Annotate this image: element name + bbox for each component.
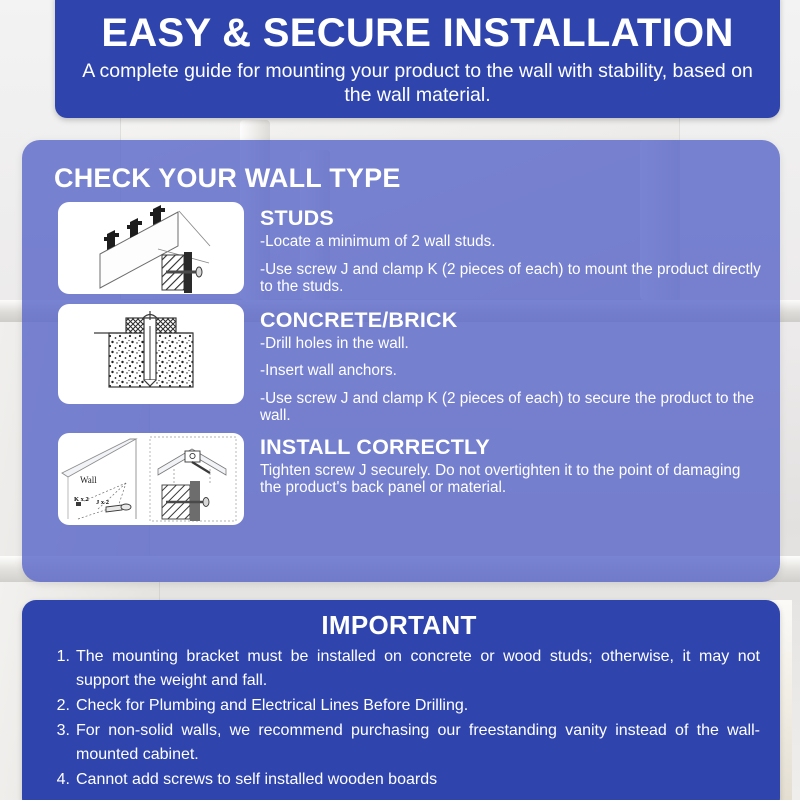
install-correctly-diagram-svg: Wall K x 2 J x 2	[58, 433, 244, 525]
concrete-diagram	[58, 304, 244, 404]
page-subtitle: A complete guide for mounting your produ…	[73, 59, 762, 107]
important-list: The mounting bracket must be installed o…	[38, 645, 760, 792]
important-list-item: Check for Plumbing and Electrical Lines …	[42, 694, 760, 718]
concrete-anchor-diagram-svg	[58, 304, 244, 404]
install-line-1: Tighten screw J securely. Do not overtig…	[260, 462, 762, 497]
studs-panel-diagram-svg	[58, 202, 244, 294]
install-diagram: Wall K x 2 J x 2	[58, 433, 244, 525]
studs-line-2: -Use screw J and clamp K (2 pieces of ea…	[260, 261, 762, 296]
clamp-qty-label: K x 2	[74, 496, 89, 503]
concrete-heading: CONCRETE/BRICK	[260, 308, 762, 333]
wall-type-item-concrete: CONCRETE/BRICK -Drill holes in the wall.…	[40, 304, 762, 425]
concrete-line-2: -Insert wall anchors.	[260, 362, 762, 380]
wall-type-title: CHECK YOUR WALL TYPE	[54, 163, 762, 194]
studs-line-1: -Locate a minimum of 2 wall studs.	[260, 233, 762, 251]
wall-type-card: CHECK YOUR WALL TYPE	[22, 140, 780, 582]
install-text: INSTALL CORRECTLY Tighten screw J secure…	[244, 433, 762, 497]
wall-type-item-install: Wall K x 2 J x 2	[40, 433, 762, 525]
important-list-item: Cannot add screws to self installed wood…	[42, 768, 760, 792]
important-banner: IMPORTANT The mounting bracket must be i…	[22, 600, 780, 800]
studs-diagram	[58, 202, 244, 294]
concrete-line-3: -Use screw J and clamp K (2 pieces of ea…	[260, 390, 762, 425]
infographic-page: N°5 CHANE EASY & SECURE INSTALLATION A c…	[0, 0, 800, 800]
concrete-text: CONCRETE/BRICK -Drill holes in the wall.…	[244, 304, 762, 425]
install-heading: INSTALL CORRECTLY	[260, 435, 762, 460]
wall-label: Wall	[80, 475, 97, 485]
important-title: IMPORTANT	[38, 610, 760, 641]
page-title: EASY & SECURE INSTALLATION	[73, 10, 762, 56]
important-list-item: The mounting bracket must be installed o…	[42, 645, 760, 693]
important-list-item: For non-solid walls, we recommend purcha…	[42, 719, 760, 767]
studs-text: STUDS -Locate a minimum of 2 wall studs.…	[244, 202, 762, 296]
wall-type-item-studs: STUDS -Locate a minimum of 2 wall studs.…	[40, 202, 762, 296]
studs-heading: STUDS	[260, 206, 762, 231]
header-banner: EASY & SECURE INSTALLATION A complete gu…	[55, 0, 780, 118]
screw-qty-label: J x 2	[96, 499, 109, 506]
concrete-line-1: -Drill holes in the wall.	[260, 335, 762, 353]
